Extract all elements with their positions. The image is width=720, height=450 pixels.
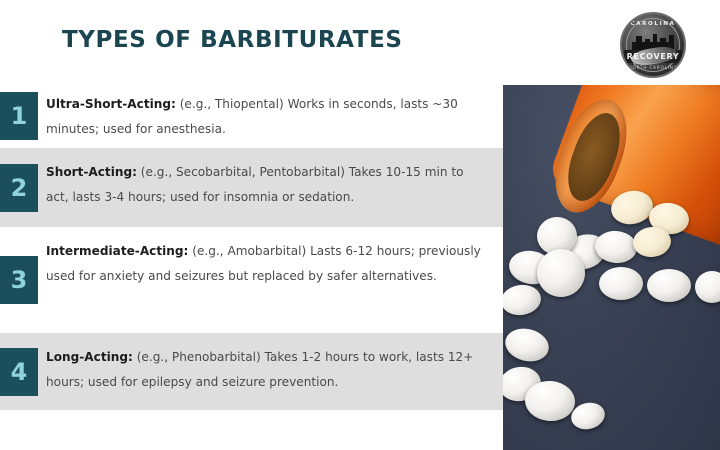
item-label: Long-Acting: — [46, 350, 133, 364]
pill — [647, 269, 691, 302]
list-item: 4 Long-Acting: (e.g., Phenobarbital) Tak… — [0, 333, 503, 410]
badge-container: 1 — [0, 92, 42, 140]
badge-container: 3 — [0, 256, 42, 304]
barbiturate-types-list: 1 Ultra-Short-Acting: (e.g., Thiopental)… — [0, 83, 503, 410]
item-text: Ultra-Short-Acting: (e.g., Thiopental) W… — [42, 83, 503, 146]
pill — [599, 267, 643, 300]
pill — [537, 249, 585, 297]
item-label: Intermediate-Acting: — [46, 244, 188, 258]
item-text: Long-Acting: (e.g., Phenobarbital) Takes… — [42, 333, 503, 399]
badge-container: 4 — [0, 348, 42, 396]
carolina-recovery-logo: CAROLINA RECOVERY NORTH CAROLINA — [620, 12, 686, 78]
list-item: 3 Intermediate-Acting: (e.g., Amobarbita… — [0, 227, 503, 333]
item-text: Short-Acting: (e.g., Secobarbital, Pento… — [42, 148, 503, 214]
item-number-badge: 1 — [0, 92, 38, 140]
badge-container: 2 — [0, 164, 42, 212]
logo-bottom-text: NORTH CAROLINA — [622, 65, 684, 70]
logo-top-text: CAROLINA — [622, 21, 684, 27]
infographic-page: TYPES OF BARBITURATES 1 Ultra-Short-Acti… — [0, 0, 720, 450]
item-text: Intermediate-Acting: (e.g., Amobarbital)… — [42, 227, 503, 293]
list-item: 2 Short-Acting: (e.g., Secobarbital, Pen… — [0, 148, 503, 227]
item-number-badge: 3 — [0, 256, 38, 304]
list-item: 1 Ultra-Short-Acting: (e.g., Thiopental)… — [0, 83, 503, 148]
item-number-badge: 2 — [0, 164, 38, 212]
pill-bottle-photo — [503, 85, 720, 450]
item-label: Ultra-Short-Acting: — [46, 97, 176, 111]
item-number-badge: 4 — [0, 348, 38, 396]
item-label: Short-Acting: — [46, 165, 137, 179]
page-title: TYPES OF BARBITURATES — [62, 27, 403, 53]
